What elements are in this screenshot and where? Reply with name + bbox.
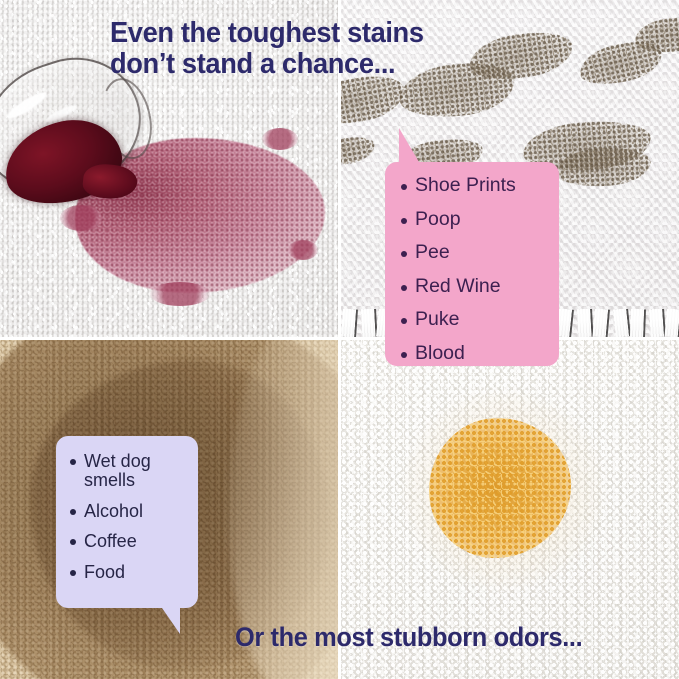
callout-tail-pink [399, 128, 419, 162]
list-item-label: Shoe Prints [415, 176, 516, 196]
wine-splatter [262, 128, 298, 150]
list-item: Puke [401, 310, 547, 330]
stain-odor-promo-poster: Even the toughest stains don’t stand a c… [0, 0, 679, 679]
callout-tail-purple [162, 608, 180, 634]
callout-odors-list: Wet dog smells Alcohol Coffee Food [56, 436, 198, 608]
wine-splatter [288, 240, 318, 260]
list-item: Blood [401, 344, 547, 364]
bullet-icon [70, 539, 76, 545]
page-title: Even the toughest stains don’t stand a c… [110, 18, 424, 81]
list-item-label: Wet dog smells [84, 452, 188, 491]
bullet-icon [401, 285, 407, 291]
list-item-label: Alcohol [84, 502, 143, 521]
callout-stains-list: Shoe Prints Poop Pee Red Wine Puke Blood [385, 162, 559, 366]
bullet-icon [70, 459, 76, 465]
wine-splatter [150, 282, 210, 306]
list-item: Wet dog smells [70, 452, 188, 491]
bullet-icon [70, 509, 76, 515]
list-item: Pee [401, 243, 547, 263]
list-item-label: Puke [415, 310, 459, 330]
list-item: Alcohol [70, 502, 188, 521]
bullet-icon [401, 184, 407, 190]
list-item-label: Red Wine [415, 277, 501, 297]
list-item: Food [70, 563, 188, 582]
headline-top-line2: don’t stand a chance... [110, 49, 424, 80]
list-item: Coffee [70, 532, 188, 551]
bullet-icon [401, 318, 407, 324]
list-item-label: Blood [415, 344, 465, 364]
bullet-icon [70, 570, 76, 576]
quadrant-divider-horizontal [0, 337, 679, 340]
list-item-label: Food [84, 563, 125, 582]
bullet-icon [401, 352, 407, 358]
bullet-icon [401, 251, 407, 257]
list-item-label: Pee [415, 243, 450, 263]
odor-list: Wet dog smells Alcohol Coffee Food [70, 452, 188, 582]
list-item-label: Poop [415, 210, 461, 230]
wine-splatter [60, 205, 102, 231]
headline-bottom: Or the most stubborn odors... [235, 623, 582, 652]
list-item: Poop [401, 210, 547, 230]
list-item-label: Coffee [84, 532, 137, 551]
headline-top-line1: Even the toughest stains [110, 18, 424, 49]
list-item: Red Wine [401, 277, 547, 297]
stain-list: Shoe Prints Poop Pee Red Wine Puke Blood [401, 176, 547, 363]
list-item: Shoe Prints [401, 176, 547, 196]
bullet-icon [401, 218, 407, 224]
